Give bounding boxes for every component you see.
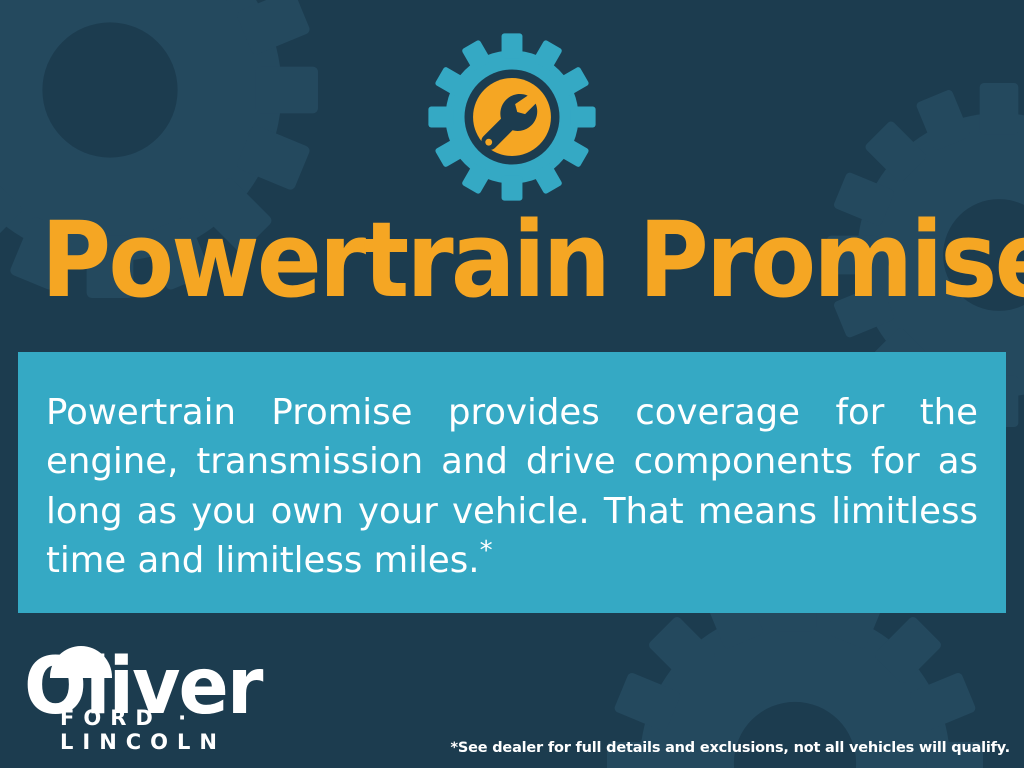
promotional-graphic: Powertrain Promise Powertrain Promise pr…	[0, 0, 1024, 768]
copy-panel: Powertrain Promise provides coverage for…	[18, 352, 1006, 613]
logo-subtitle: FORD · LINCOLN	[60, 706, 334, 754]
dealer-logo: Oliver FORD · LINCOLN	[24, 642, 334, 760]
disclaimer-text: *See dealer for full details and exclusi…	[451, 740, 1010, 756]
copy-paragraph-text: Powertrain Promise provides coverage for…	[46, 392, 978, 581]
page-title: Powertrain Promise	[41, 208, 983, 312]
gear-icon	[417, 22, 607, 212]
copy-paragraph: Powertrain Promise provides coverage for…	[46, 388, 978, 585]
asterisk-marker: *	[480, 536, 493, 566]
